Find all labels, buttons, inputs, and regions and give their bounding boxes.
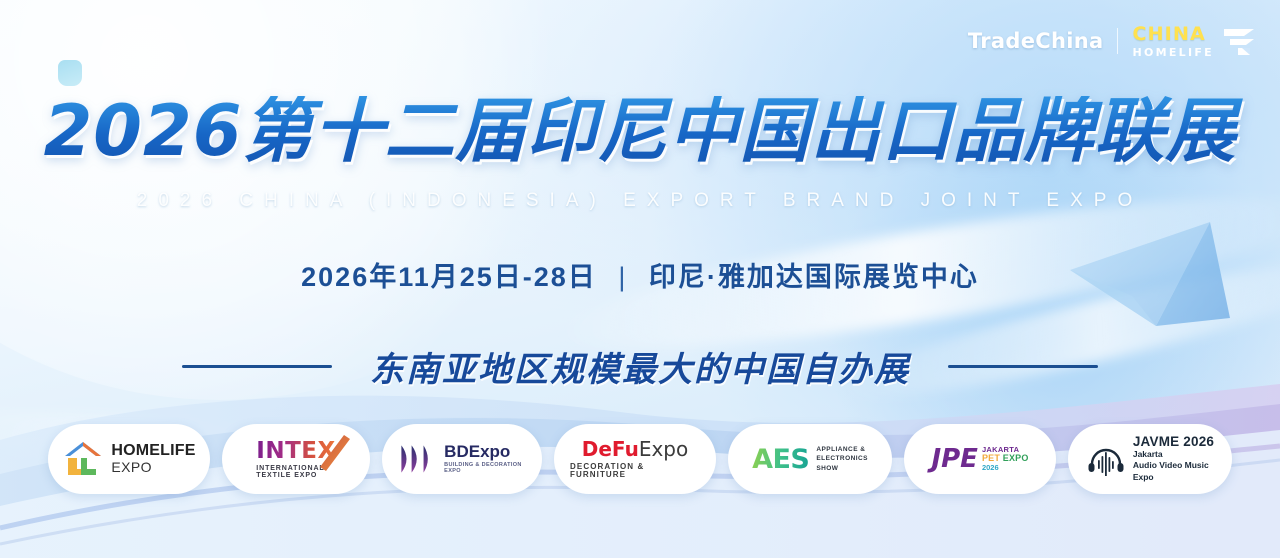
house-hl-icon	[62, 439, 104, 479]
china-homelife-logo[interactable]: CHINA HOMELIFE	[1132, 25, 1256, 58]
page-subtitle-en: 2026 CHINA (INDONESIA) EXPORT BRAND JOIN…	[0, 190, 1280, 212]
date-venue-separator: |	[618, 262, 627, 292]
badge-jpe-name: JPE	[931, 444, 978, 474]
badge-aes[interactable]: AES APPLIANCE & ELECTRONICS SHOW	[728, 424, 892, 494]
china-homelife-line2: HOMELIFE	[1132, 47, 1214, 58]
badge-javme-line1: Jakarta	[1133, 449, 1214, 460]
badge-aes-line2: ELECTRONICS	[816, 454, 868, 463]
badge-javme-line2: Audio Video Music	[1133, 460, 1214, 471]
cyan-square-accent	[58, 60, 82, 86]
expo-badge-list: HOMELIFE EXPO INTEX INTERNATIONAL TEXTIL…	[0, 424, 1280, 494]
slogan-rule-right	[948, 365, 1098, 368]
homelife-flag-icon	[1220, 25, 1256, 57]
badge-javme-line3: Expo	[1133, 472, 1214, 483]
badge-jpe-line3: 2026	[982, 464, 1029, 472]
slogan-row: 东南亚地区规模最大的中国自办展	[0, 342, 1280, 391]
event-date: 2026年11月25日-28日	[301, 262, 597, 292]
china-homelife-line1: CHINA	[1132, 25, 1214, 44]
slogan-text: 东南亚地区规模最大的中国自办展	[370, 342, 910, 391]
slogan-rule-left	[182, 365, 332, 368]
badge-jakarta-pet-expo[interactable]: JPE JAKARTA PET EXPO 2026	[904, 424, 1056, 494]
badge-intex[interactable]: INTEX INTERNATIONAL TEXTILE EXPO	[222, 424, 370, 494]
badge-aes-line3: SHOW	[816, 464, 868, 473]
badge-homelife-expo[interactable]: HOMELIFE EXPO	[48, 424, 210, 494]
badge-defuexpo-name: DeFuExpo	[582, 439, 688, 460]
date-venue-line: 2026年11月25日-28日 | 印尼·雅加达国际展览中心	[0, 255, 1280, 294]
event-venue: 印尼·雅加达国际展览中心	[649, 262, 979, 292]
badge-bdexpo-name: BDExpo	[444, 443, 526, 461]
badge-defuexpo[interactable]: DeFuExpo DECORATION & FURNITURE	[554, 424, 716, 494]
badge-aes-line1: APPLIANCE &	[816, 445, 868, 454]
badge-homelife-line2: EXPO	[111, 460, 195, 475]
intex-x-icon	[318, 433, 352, 473]
badge-jpe-line2b: EXPO	[1003, 453, 1029, 463]
badge-defuexpo-subtitle: DECORATION & FURNITURE	[570, 463, 700, 480]
logo-divider	[1117, 28, 1118, 54]
bd-petal-icon	[398, 440, 437, 478]
badge-javme[interactable]: JAVME 2026 Jakarta Audio Video Music Exp…	[1068, 424, 1232, 494]
badge-intex-line2: TEXTILE EXPO	[256, 472, 335, 479]
badge-bdexpo-subtitle: BUILDING & DECORATION EXPO	[444, 463, 526, 475]
header-logos: TradeChina CHINA HOMELIFE	[968, 18, 1256, 64]
expo-banner: TradeChina CHINA HOMELIFE 2026第十二届印尼中国出口…	[0, 0, 1280, 558]
tradechina-logo[interactable]: TradeChina	[968, 29, 1104, 53]
badge-aes-name: AES	[752, 444, 809, 475]
badge-defu-name-b: Expo	[639, 437, 688, 461]
badge-defu-name-a: DeFu	[582, 437, 639, 461]
badge-javme-title: JAVME 2026	[1133, 435, 1214, 449]
page-title: 2026第十二届印尼中国出口品牌联展	[0, 96, 1280, 166]
badge-jpe-line2a: PET	[982, 453, 1000, 463]
badge-homelife-line1: HOMELIFE	[111, 443, 195, 460]
headphone-waveform-icon	[1086, 442, 1126, 476]
badge-bdexpo[interactable]: BDExpo BUILDING & DECORATION EXPO	[382, 424, 542, 494]
